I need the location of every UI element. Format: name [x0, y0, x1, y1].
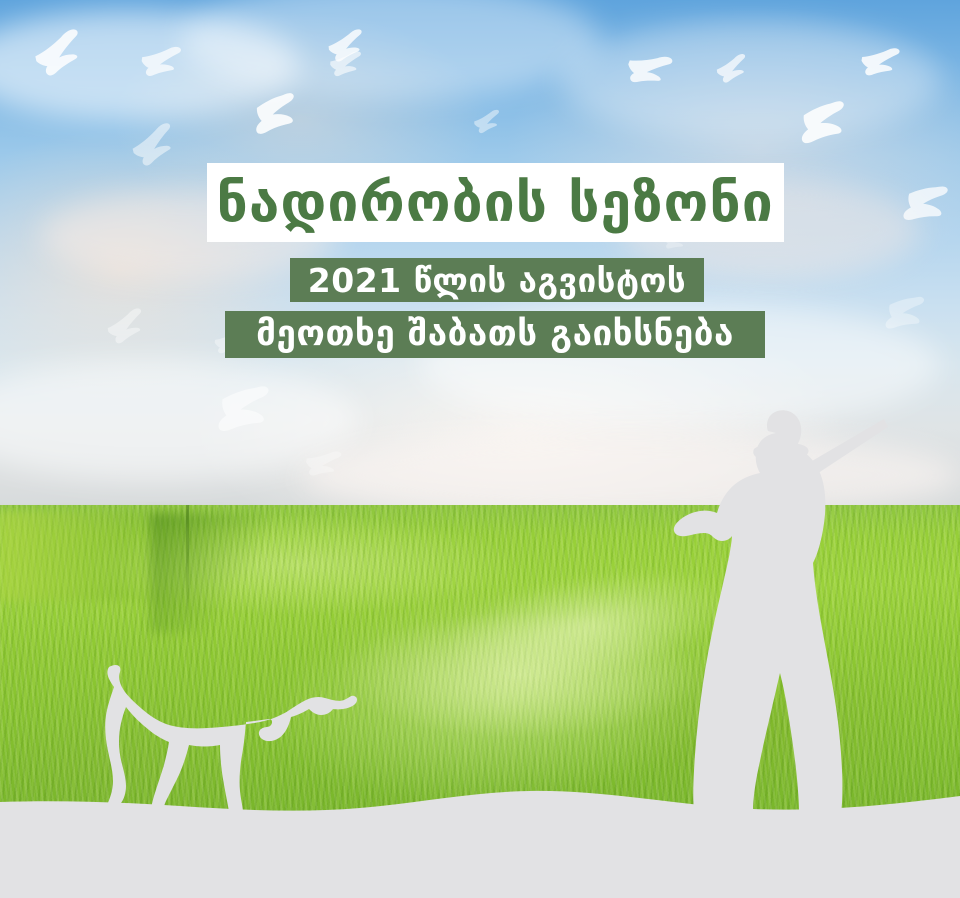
cloud-wisp [0, 360, 360, 480]
cloud-wisp [560, 20, 940, 140]
headline-banner: ნადირობის სეზონი [207, 163, 784, 242]
subtitle-line2: მეოთხე შაბათს გაიხსნება [256, 317, 734, 352]
cloud-wisp [0, 10, 300, 120]
composite-seam [186, 505, 189, 625]
page-title: ნადირობის სეზონი [217, 176, 774, 230]
subtitle-band-line1: 2021 წლის აგვისტოს [290, 258, 704, 302]
subtitle-line1: 2021 წლის აგვისტოს [308, 264, 686, 297]
cloud-wisp [180, 0, 600, 100]
bottom-wave-band [0, 758, 960, 898]
field-ridge [150, 513, 270, 633]
poster-canvas: ნადირობის სეზონი 2021 წლის აგვისტოს მეოთ… [0, 0, 960, 898]
subtitle-band-line2: მეოთხე შაბათს გაიხსნება [225, 311, 765, 358]
